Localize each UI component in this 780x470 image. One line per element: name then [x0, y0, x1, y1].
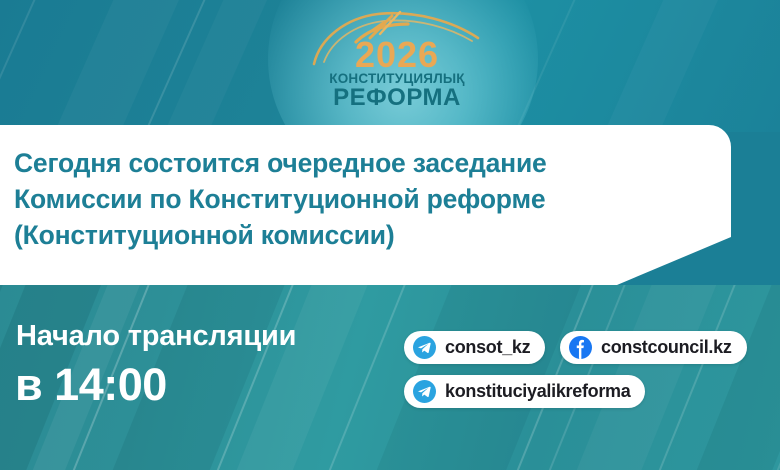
- social-handle-label: konstituciyalikreforma: [445, 381, 630, 402]
- constitutional-reform-logo: 2026 КОНСТИТУЦИЯЛЫҚ РЕФОРМА: [312, 8, 482, 118]
- background-streak: [568, 0, 736, 132]
- telegram-icon: [413, 380, 436, 403]
- broadcast-start-label: Начало трансляции: [16, 322, 296, 351]
- social-link-telegram-consot-kz[interactable]: consot_kz: [404, 331, 545, 364]
- social-link-telegram-konstituciyalikreforma[interactable]: konstituciyalikreforma: [404, 375, 645, 408]
- social-link-facebook-constcouncil-kz[interactable]: constcouncil.kz: [560, 331, 747, 364]
- logo-year: 2026: [312, 37, 482, 73]
- social-handle-label: consot_kz: [445, 337, 530, 358]
- social-handle-label: constcouncil.kz: [601, 337, 732, 358]
- background-streak: [0, 0, 62, 132]
- logo-subtitle-kk-line2: РЕФОРМА: [312, 86, 482, 110]
- headline-line-3: (Конституционной комиссии): [14, 217, 714, 253]
- telegram-icon: [413, 336, 436, 359]
- headline-panel: Сегодня состоится очередное заседание Ко…: [0, 125, 731, 285]
- headline-line-2: Комиссии по Конституционной реформе: [14, 181, 714, 217]
- background-streak: [18, 0, 195, 132]
- headline-line-1: Сегодня состоится очередное заседание: [14, 145, 714, 181]
- broadcast-start-time: в 14:00: [15, 362, 167, 407]
- broadcast-announcement-banner: 2026 КОНСТИТУЦИЯЛЫҚ РЕФОРМА Сегодня сост…: [0, 0, 780, 470]
- facebook-icon: [569, 336, 592, 359]
- headline-text: Сегодня состоится очередное заседание Ко…: [14, 145, 714, 253]
